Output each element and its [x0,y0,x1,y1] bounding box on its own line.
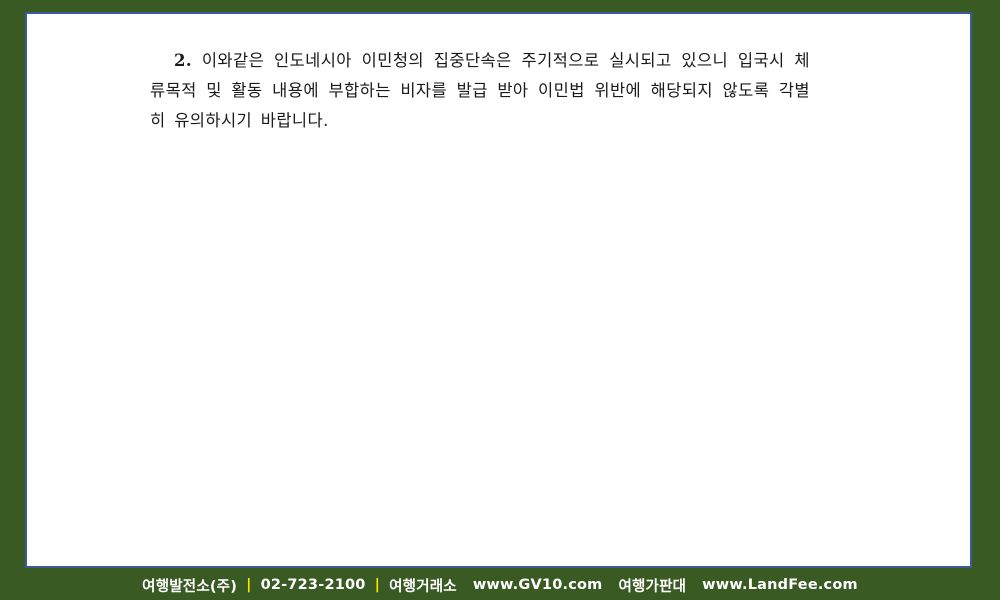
paragraph-text: 이와같은 인도네시아 이민청의 집중단속은 주기적으로 실시되고 있으니 입국시… [150,51,810,130]
footer-brand1-url[interactable]: www.GV10.com [473,577,603,593]
footer-brand1-name: 여행거래소 [389,575,457,596]
footer-separator-2: | [366,577,390,593]
body-paragraph-block: 2. 이와같은 인도네시아 이민청의 집중단속은 주기적으로 실시되고 있으니 … [150,46,810,136]
footer-separator-1: | [237,577,261,593]
paragraph-item-2: 2. 이와같은 인도네시아 이민청의 집중단속은 주기적으로 실시되고 있으니 … [150,46,810,136]
footer-phone-number: 02-723-2100 [261,577,366,593]
footer-company-name: 여행발전소(주) [142,575,237,596]
slide-root: 2. 이와같은 인도네시아 이민청의 집중단속은 주기적으로 실시되고 있으니 … [0,0,1000,600]
footer-content: 여행발전소(주) | 02-723-2100 | 여행거래소 www.GV10.… [142,575,858,596]
footer-bar: 여행발전소(주) | 02-723-2100 | 여행거래소 www.GV10.… [0,570,1000,600]
footer-brand2-url[interactable]: www.LandFee.com [702,577,858,593]
slide-content-page: 2. 이와같은 인도네시아 이민청의 집중단속은 주기적으로 실시되고 있으니 … [25,12,972,568]
paragraph-number: 2. [174,51,192,70]
footer-brand2-name: 여행가판대 [618,575,686,596]
